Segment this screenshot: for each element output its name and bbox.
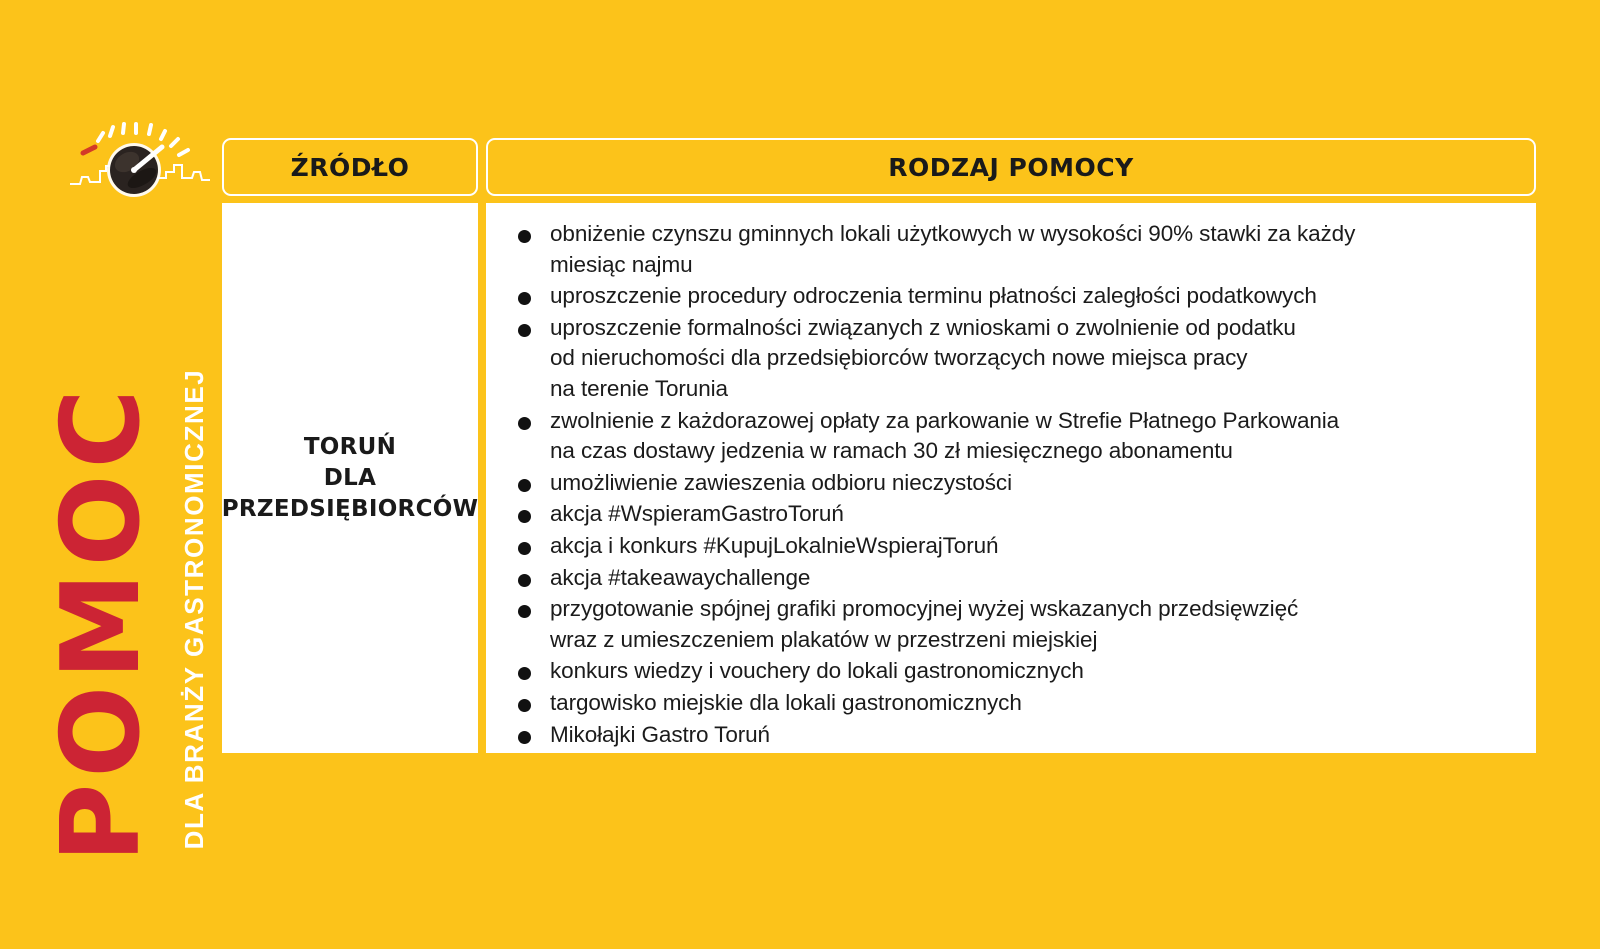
list-item: konkurs wiedzy i vouchery do lokali gast… xyxy=(504,656,1518,687)
list-item: uproszczenie formalności związanych z wn… xyxy=(504,313,1518,405)
brand-subtitle: DLA BRANŻY GASTRONOMICZNEJ xyxy=(177,329,211,889)
list-item-line: umożliwienie zawieszenia odbioru nieczys… xyxy=(550,468,1518,499)
list-item-line: od nieruchomości dla przedsiębiorców two… xyxy=(550,343,1518,374)
brand-rail: POMOC DLA BRANŻY GASTRONOMICZNEJ xyxy=(40,118,220,778)
list-item-line: przygotowanie spójnej grafiki promocyjne… xyxy=(550,594,1518,625)
list-item-line: targowisko miejskie dla lokali gastronom… xyxy=(550,688,1518,719)
list-item: akcja #takeawaychallenge xyxy=(504,563,1518,594)
list-item-line: na czas dostawy jedzenia w ramach 30 zł … xyxy=(550,436,1518,467)
bullet-icon xyxy=(518,510,531,523)
list-item-line: uproszczenie formalności związanych z wn… xyxy=(550,313,1518,344)
list-item: obniżenie czynszu gminnych lokali użytko… xyxy=(504,219,1518,280)
list-item-line: obniżenie czynszu gminnych lokali użytko… xyxy=(550,219,1518,250)
bullet-icon xyxy=(518,699,531,712)
bullet-icon xyxy=(518,731,531,744)
list-item-line: wraz z umieszczeniem plakatów w przestrz… xyxy=(550,625,1518,656)
bullet-icon xyxy=(518,292,531,305)
poster-canvas: POMOC DLA BRANŻY GASTRONOMICZNEJ ŹRÓDŁO … xyxy=(0,0,1600,949)
list-item: targowisko miejskie dla lokali gastronom… xyxy=(504,688,1518,719)
bullet-icon xyxy=(518,667,531,680)
list-item-line: konkurs wiedzy i vouchery do lokali gast… xyxy=(550,656,1518,687)
source-line-2: DLA xyxy=(222,463,479,494)
bullet-icon xyxy=(518,542,531,555)
coffee-cup-gauge-skyline-icon xyxy=(70,122,210,200)
brand-title: POMOC xyxy=(47,333,157,913)
source-line-3: PRZEDSIĘBIORCÓW xyxy=(222,494,479,525)
list-item-line: miesiąc najmu xyxy=(550,250,1518,281)
bullet-icon xyxy=(518,605,531,618)
list-item: przygotowanie spójnej grafiki promocyjne… xyxy=(504,594,1518,655)
list-item-line: na terenie Torunia xyxy=(550,374,1518,405)
list-item-line: akcja i konkurs #KupujLokalnieWspierajTo… xyxy=(550,531,1518,562)
bullet-icon xyxy=(518,574,531,587)
list-item-line: uproszczenie procedury odroczenia termin… xyxy=(550,281,1518,312)
list-item-line: akcja #WspieramGastroToruń xyxy=(550,499,1518,530)
list-item-line: Mikołajki Gastro Toruń xyxy=(550,720,1518,751)
list-item: umożliwienie zawieszenia odbioru nieczys… xyxy=(504,468,1518,499)
list-item: akcja #WspieramGastroToruń xyxy=(504,499,1518,530)
aid-list: obniżenie czynszu gminnych lokali użytko… xyxy=(504,219,1518,750)
cell-aid-kind: obniżenie czynszu gminnych lokali użytko… xyxy=(486,203,1536,753)
source-line-1: TORUŃ xyxy=(222,432,479,463)
list-item: akcja i konkurs #KupujLokalnieWspierajTo… xyxy=(504,531,1518,562)
bullet-icon xyxy=(518,417,531,430)
bullet-icon xyxy=(518,230,531,243)
list-item: zwolnienie z każdorazowej opłaty za park… xyxy=(504,406,1518,467)
list-item-line: akcja #takeawaychallenge xyxy=(550,563,1518,594)
table-header-row: ŹRÓDŁO RODZAJ POMOCY xyxy=(222,138,1536,196)
list-item: Mikołajki Gastro Toruń xyxy=(504,720,1518,751)
list-item-line: zwolnienie z każdorazowej opłaty za park… xyxy=(550,406,1518,437)
table-row: TORUŃ DLA PRZEDSIĘBIORCÓW obniżenie czyn… xyxy=(222,203,1536,753)
bullet-icon xyxy=(518,324,531,337)
cell-source: TORUŃ DLA PRZEDSIĘBIORCÓW xyxy=(222,203,478,753)
list-item: uproszczenie procedury odroczenia termin… xyxy=(504,281,1518,312)
aid-table: ŹRÓDŁO RODZAJ POMOCY TORUŃ DLA PRZEDSIĘB… xyxy=(222,138,1536,753)
source-name: TORUŃ DLA PRZEDSIĘBIORCÓW xyxy=(222,432,479,525)
column-header-source: ŹRÓDŁO xyxy=(222,138,478,196)
column-header-kind: RODZAJ POMOCY xyxy=(486,138,1536,196)
bullet-icon xyxy=(518,479,531,492)
